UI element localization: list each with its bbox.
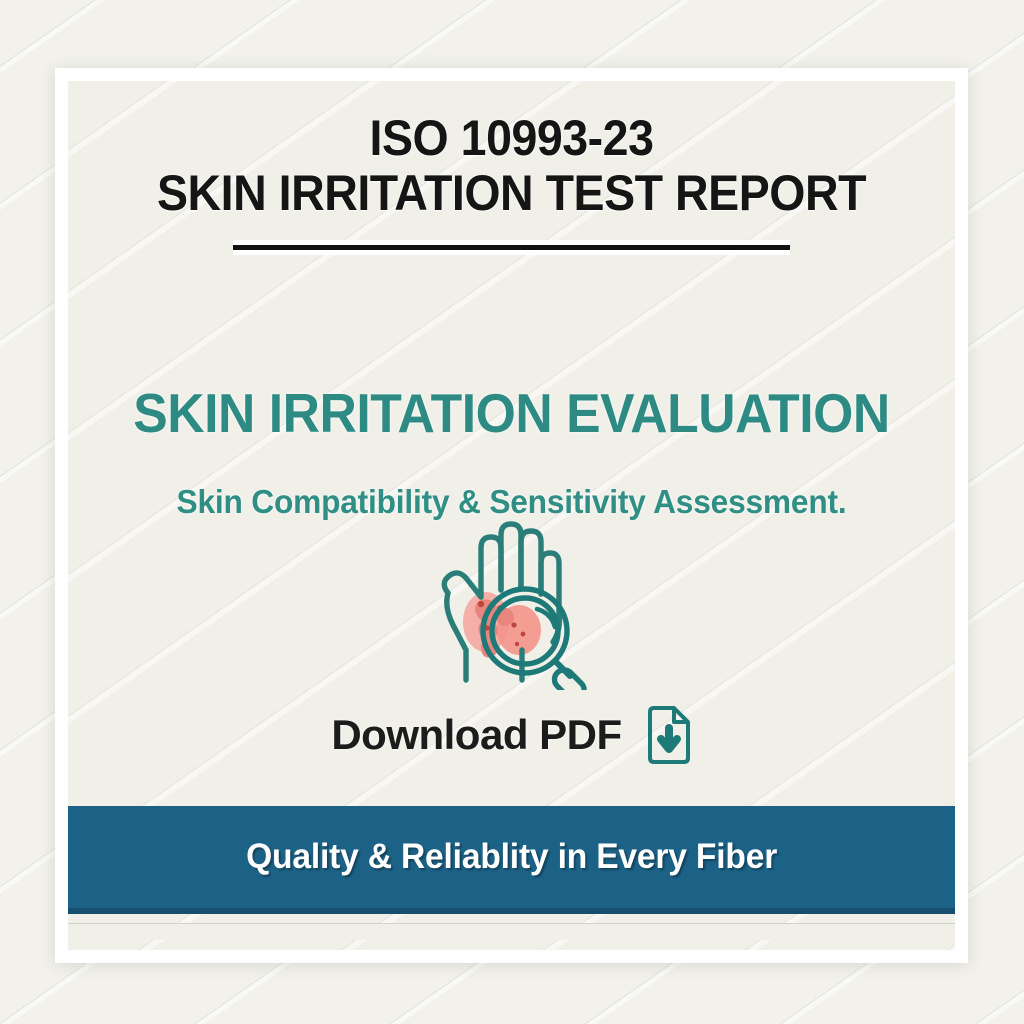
headline: SKIN IRRITATION EVALUATION [95, 381, 929, 445]
footer-underline [68, 923, 955, 940]
title-divider [233, 245, 790, 250]
hand-icon-container [68, 518, 955, 690]
footer-band: Quality & Reliablity in Every Fiber [68, 806, 955, 914]
footer-tagline: Quality & Reliablity in Every Fiber [246, 837, 777, 877]
poster-card: ISO 10993-23 SKIN IRRITATION TEST REPORT… [68, 81, 955, 950]
download-pdf-label: Download PDF [331, 711, 621, 759]
download-pdf-button[interactable]: Download PDF [68, 706, 955, 764]
header: ISO 10993-23 SKIN IRRITATION TEST REPORT [68, 113, 955, 250]
subtitle: Skin Compatibility & Sensitivity Assessm… [86, 483, 938, 521]
pdf-download-icon[interactable] [644, 706, 692, 764]
page-title-line-2: SKIN IRRITATION TEST REPORT [99, 168, 924, 219]
hand-with-rash-and-magnifier-icon [424, 518, 600, 690]
rash-patch-icon [463, 592, 541, 657]
page-title-line-1: ISO 10993-23 [99, 113, 924, 164]
poster-frame: ISO 10993-23 SKIN IRRITATION TEST REPORT… [55, 68, 968, 963]
